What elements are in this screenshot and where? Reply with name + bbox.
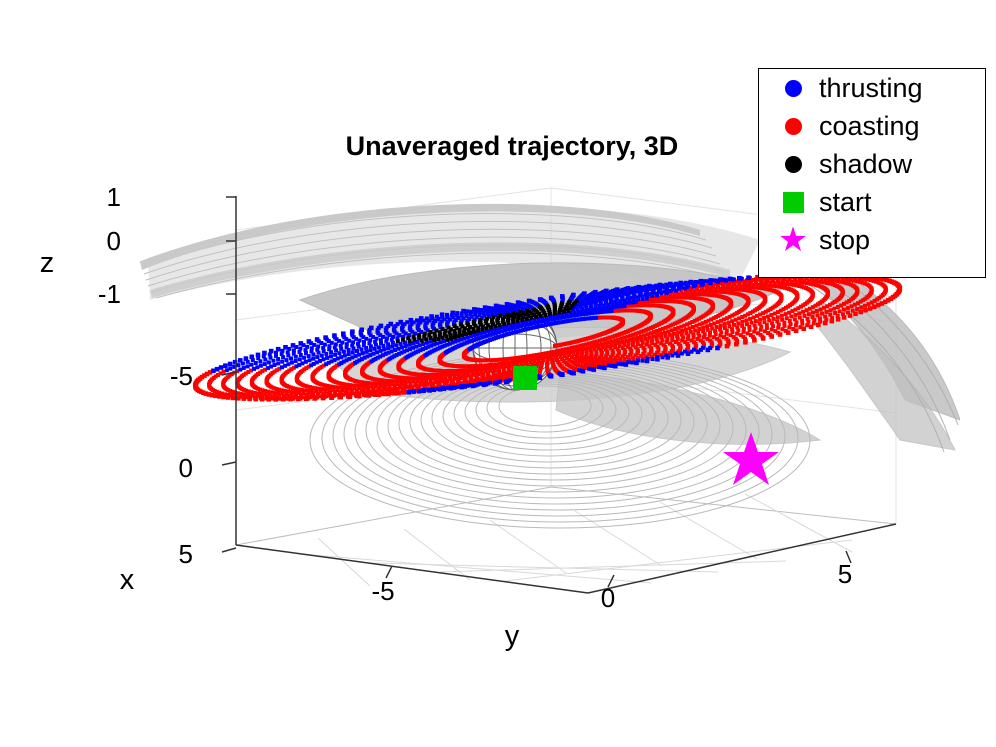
legend-label: thrusting (819, 73, 923, 104)
marker-start (513, 366, 537, 390)
y-tick-label: -5 (371, 576, 394, 606)
legend: thrusting coasting shadow start ★ stop (758, 68, 986, 278)
y-tick-label: 5 (838, 559, 852, 589)
legend-label: shadow (819, 149, 912, 180)
legend-label: stop (819, 225, 870, 256)
legend-marker-star-icon: ★ (773, 223, 813, 257)
figure: -5 0 5 -5 0 5 1 0 -1 (0, 0, 996, 747)
z-axis-label: z (40, 247, 55, 279)
x-tick-label: 0 (179, 453, 193, 483)
legend-item-thrusting[interactable]: thrusting (759, 69, 985, 107)
chart-title: Unaveraged trajectory, 3D (346, 131, 679, 161)
z-tick-label: 0 (107, 226, 121, 256)
legend-marker-circle-icon (773, 80, 813, 97)
x-tick-label: -5 (170, 361, 193, 391)
x-tick-label: 5 (179, 539, 193, 569)
legend-item-shadow[interactable]: shadow (759, 145, 985, 183)
legend-item-stop[interactable]: ★ stop (759, 221, 985, 259)
legend-item-start[interactable]: start (759, 183, 985, 221)
z-tick-label: 1 (107, 182, 121, 212)
floor-grid (236, 487, 896, 593)
y-tick-label: 0 (601, 583, 615, 613)
legend-marker-square-icon (773, 192, 813, 213)
legend-label: coasting (819, 111, 920, 142)
legend-marker-circle-icon (773, 118, 813, 135)
y-axis-label: y (505, 620, 520, 652)
x-axis-label: x (120, 564, 135, 596)
legend-marker-circle-icon (773, 156, 813, 173)
legend-label: start (819, 187, 872, 218)
legend-item-coasting[interactable]: coasting (759, 107, 985, 145)
z-tick-label: -1 (98, 279, 121, 309)
